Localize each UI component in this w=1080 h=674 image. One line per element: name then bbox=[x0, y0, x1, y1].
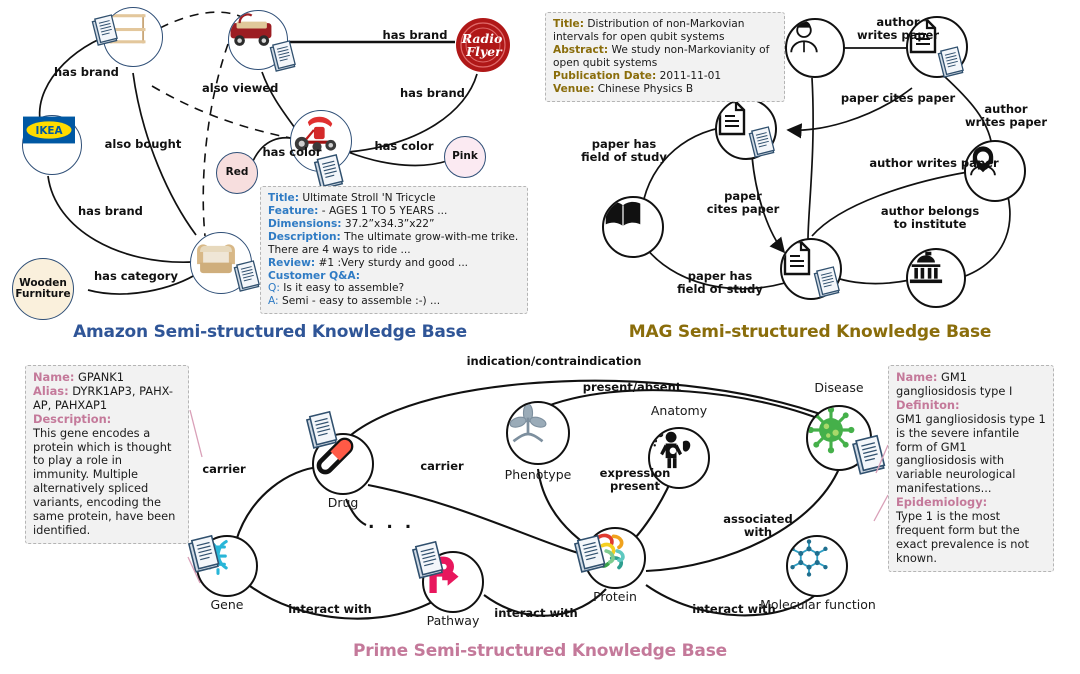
disease-key-epidemiology: Epidemiology: bbox=[896, 495, 987, 509]
disease-val-definition: GM1 gangliosidosis type 1 is the severe … bbox=[896, 412, 1046, 496]
amazon-kb-panel: IKEA bbox=[0, 0, 540, 345]
amazon-key-answer: A: bbox=[268, 295, 279, 307]
mag-paper-infobox: Title: Distribution of non-Markovian int… bbox=[545, 12, 785, 102]
svg-text:Flyer: Flyer bbox=[465, 44, 503, 59]
mag-key-abstract: Abstract: bbox=[553, 44, 608, 56]
author-male-icon bbox=[787, 20, 821, 54]
disease-key-name: Name: bbox=[896, 370, 937, 384]
prime-panel-caption: Prime Semi-structured Knowledge Base bbox=[0, 641, 1080, 661]
amazon-edge-label-also-viewed: also viewed bbox=[202, 82, 274, 95]
mag-edge-label-author-belongs-to-institute: author belongsto institute bbox=[868, 205, 992, 231]
amazon-node-radio-flyer-brand[interactable]: Radio Flyer bbox=[455, 17, 511, 73]
gene-key-alias: Alias: bbox=[33, 384, 69, 398]
svg-text:IKEA: IKEA bbox=[35, 125, 62, 137]
gene-key-description: Description: bbox=[33, 412, 111, 426]
red-label: Red bbox=[226, 167, 249, 178]
disease-key-definition: Definiton: bbox=[896, 398, 960, 412]
amazon-node-wooden-furniture[interactable]: Wooden Furniture bbox=[12, 258, 74, 320]
mag-key-publication-date: Publication Date: bbox=[553, 70, 656, 82]
document-sticker-icon bbox=[314, 156, 344, 190]
amazon-key-description: Description: bbox=[268, 231, 341, 243]
document-sticker-icon bbox=[814, 268, 840, 298]
prime-edge-label-indication-contraindication: indication/contraindication bbox=[434, 355, 674, 368]
amazon-edge-label-has-brand-4: has brand bbox=[400, 87, 464, 100]
prime-edge-label-associated-with: associatedwith bbox=[708, 513, 808, 539]
mag-edge-label-paper-has-field-of-study-2: paper hasfield of study bbox=[658, 270, 782, 296]
amazon-val-review: #1 :Very sturdy and good ... bbox=[318, 257, 468, 269]
wooden-furniture-label: Wooden Furniture bbox=[13, 278, 73, 300]
document-sticker-icon bbox=[92, 16, 118, 46]
disease-val-epidemiology: Type 1 is the most frequent form but the… bbox=[896, 509, 1029, 565]
pink-label: Pink bbox=[452, 151, 478, 162]
amazon-product-infobox: Title: Ultimate Stroll 'N Tricycle Featu… bbox=[260, 186, 528, 314]
amazon-key-qa: Customer Q&A: bbox=[268, 270, 360, 282]
mag-edge-label-paper-cites-paper-2: papercites paper bbox=[688, 190, 798, 216]
amazon-edge-label-also-bought: also bought bbox=[104, 138, 182, 151]
amazon-edge-label-has-brand-3: has brand bbox=[376, 29, 454, 42]
mag-node-field-of-study[interactable] bbox=[602, 196, 664, 258]
prime-ellipsis: . . . bbox=[368, 513, 414, 533]
mag-edge-label-paper-cites-paper-1: paper cites paper bbox=[838, 92, 958, 105]
radio-flyer-logo-icon: Radio Flyer bbox=[455, 17, 511, 73]
prime-gene-infobox: Name: GPANK1 Alias: DYRK1AP3, PAHX-AP, P… bbox=[25, 365, 189, 544]
amazon-key-feature: Feature: bbox=[268, 205, 318, 217]
mag-node-author-female[interactable] bbox=[964, 140, 1026, 202]
amazon-node-pink-color[interactable]: Pink bbox=[444, 136, 486, 178]
amazon-edge-label-has-category: has category bbox=[94, 270, 170, 283]
mag-key-title: Title: bbox=[553, 18, 584, 30]
prime-edge-label-interact-with-2: interact with bbox=[486, 607, 586, 620]
amazon-val-answer: Semi - easy to assemble :-) ... bbox=[282, 295, 440, 307]
mag-val-publication-date: 2011-11-01 bbox=[660, 70, 722, 82]
document-sticker-icon bbox=[234, 262, 260, 292]
gene-val-description: This gene encodes a protein which is tho… bbox=[33, 426, 175, 537]
amazon-key-review: Review: bbox=[268, 257, 315, 269]
prime-edge-label-interact-with-3: interact with bbox=[684, 603, 784, 616]
mag-kb-panel: authorauthor writes paperwrites paper pa… bbox=[540, 0, 1080, 345]
prime-disease-infobox: Name: GM1 gangliosidosis type I Definito… bbox=[888, 365, 1054, 572]
prime-kb-panel: Gene Drug Phenotype bbox=[0, 345, 1080, 674]
amazon-edge-label-has-color-2: has color bbox=[370, 140, 438, 153]
amazon-key-question: Q: bbox=[268, 282, 280, 294]
mag-val-venue: Chinese Physics B bbox=[598, 83, 694, 95]
mag-edge-label-author-writes-paper-3: author writes paper bbox=[864, 157, 1004, 170]
prime-edge-label-present-absent: present/absent bbox=[552, 381, 712, 394]
amazon-val-dimensions: 37.2”x34.3”x22” bbox=[345, 218, 435, 230]
mag-edge-label-author-writes-paper-1: authorauthor writes paperwrites paper bbox=[842, 16, 954, 42]
document-sticker-icon bbox=[749, 128, 775, 158]
prime-edge-label-interact-with-1: interact with bbox=[280, 603, 380, 616]
document-sticker-icon bbox=[938, 48, 964, 78]
amazon-panel-caption: Amazon Semi-structured Knowledge Base bbox=[0, 322, 540, 342]
book-icon bbox=[604, 198, 642, 230]
amazon-edge-label-has-brand-2: has brand bbox=[78, 205, 142, 218]
prime-edge-label-carrier-1: carrier bbox=[188, 463, 260, 476]
mag-key-venue: Venue: bbox=[553, 83, 594, 95]
amazon-edge-label-has-color-1: has color bbox=[258, 146, 326, 159]
mag-node-institute[interactable] bbox=[906, 248, 966, 308]
gene-key-name: Name: bbox=[33, 370, 74, 384]
amazon-edge-label-has-brand-1: has brand bbox=[54, 66, 118, 79]
gene-val-name: GPANK1 bbox=[78, 370, 124, 384]
amazon-node-red-color[interactable]: Red bbox=[216, 152, 258, 194]
paper-icon bbox=[717, 100, 747, 136]
institute-icon bbox=[908, 250, 944, 284]
amazon-val-question: Is it easy to assemble? bbox=[283, 282, 404, 294]
mag-edge-label-author-writes-paper-2: authorwrites paper bbox=[950, 103, 1062, 129]
amazon-key-title: Title: bbox=[268, 192, 299, 204]
amazon-key-dimensions: Dimensions: bbox=[268, 218, 342, 230]
mag-node-author-male[interactable] bbox=[785, 18, 845, 78]
document-sticker-icon bbox=[270, 42, 296, 72]
prime-edge-label-expression-present: expressionpresent bbox=[590, 467, 680, 493]
prime-edge-label-carrier-2: carrier bbox=[406, 460, 478, 473]
mag-edge-label-paper-has-field-of-study-1: paper hasfield of study bbox=[562, 138, 686, 164]
amazon-val-title: Ultimate Stroll 'N Tricycle bbox=[302, 192, 435, 204]
ikea-logo-icon: IKEA bbox=[23, 116, 75, 144]
amazon-node-ikea[interactable]: IKEA bbox=[22, 115, 82, 175]
paper-icon bbox=[782, 240, 812, 276]
mag-panel-caption: MAG Semi-structured Knowledge Base bbox=[540, 322, 1080, 342]
amazon-val-feature: - AGES 1 TO 5 YEARS ... bbox=[322, 205, 448, 217]
